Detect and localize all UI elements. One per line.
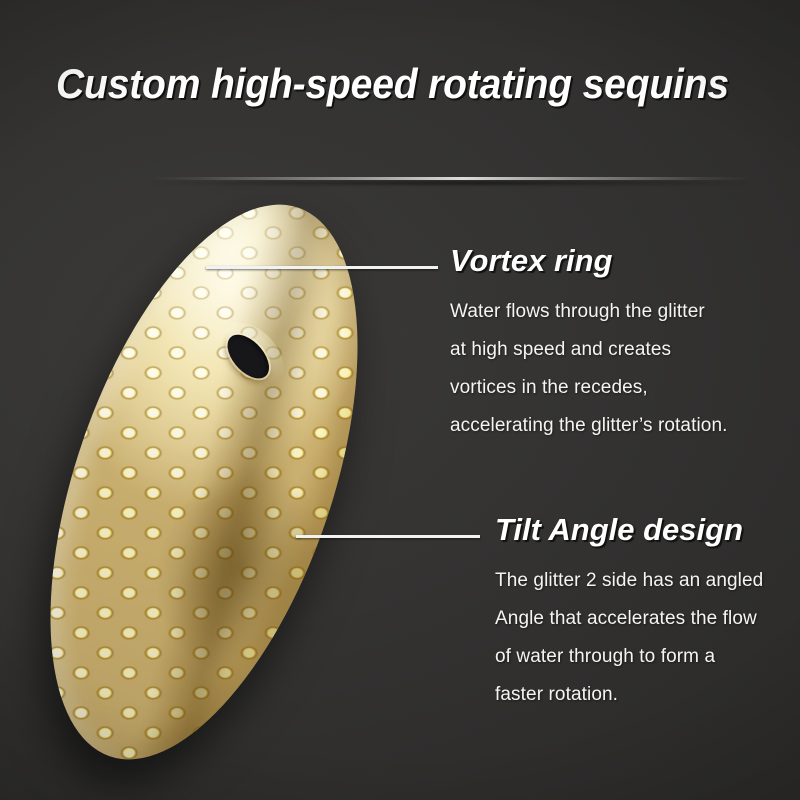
leader-line-tilt-angle bbox=[296, 535, 480, 538]
page-title: Custom high-speed rotating sequins bbox=[56, 58, 726, 110]
divider-shadow bbox=[150, 181, 750, 185]
callout-vortex-ring: Vortex ring Water flows through the glit… bbox=[450, 243, 790, 445]
sequin-body bbox=[0, 166, 419, 798]
leader-line-vortex-ring bbox=[206, 266, 438, 269]
sequin-mounting-hole bbox=[219, 328, 277, 385]
callout-tilt-angle-design: Tilt Angle design The glitter 2 side has… bbox=[495, 512, 800, 714]
callout-title-vortex-ring: Vortex ring bbox=[450, 243, 790, 279]
callout-body-line: vortices in the recedes, bbox=[450, 369, 790, 407]
sequin-metal-rim bbox=[0, 166, 419, 798]
callout-body-line: Angle that accelerates the flow bbox=[495, 600, 800, 638]
callout-title-tilt-angle-design: Tilt Angle design bbox=[495, 512, 800, 548]
callout-body-line: Water flows through the glitter bbox=[450, 293, 790, 331]
sequin-gloss-band bbox=[125, 168, 356, 798]
sequin-shading bbox=[0, 166, 419, 798]
callout-body-line: of water through to form a bbox=[495, 638, 800, 676]
callout-body-line: at high speed and creates bbox=[450, 331, 790, 369]
sequin-scale-texture-shadow bbox=[45, 166, 362, 798]
callout-body-line: accelerating the glitter’s rotation. bbox=[450, 407, 790, 445]
sequin-scale-texture-highlight bbox=[45, 166, 362, 798]
callout-body-line: faster rotation. bbox=[495, 676, 800, 714]
callout-body-vortex-ring: Water flows through the glitter at high … bbox=[450, 293, 790, 445]
infographic-canvas: Custom high-speed rotating sequins Vorte… bbox=[0, 0, 800, 800]
callout-body-line: The glitter 2 side has an angled bbox=[495, 562, 800, 600]
callout-body-tilt-angle-design: The glitter 2 side has an angled Angle t… bbox=[495, 562, 800, 714]
header-divider bbox=[150, 177, 750, 180]
product-image bbox=[58, 186, 388, 786]
